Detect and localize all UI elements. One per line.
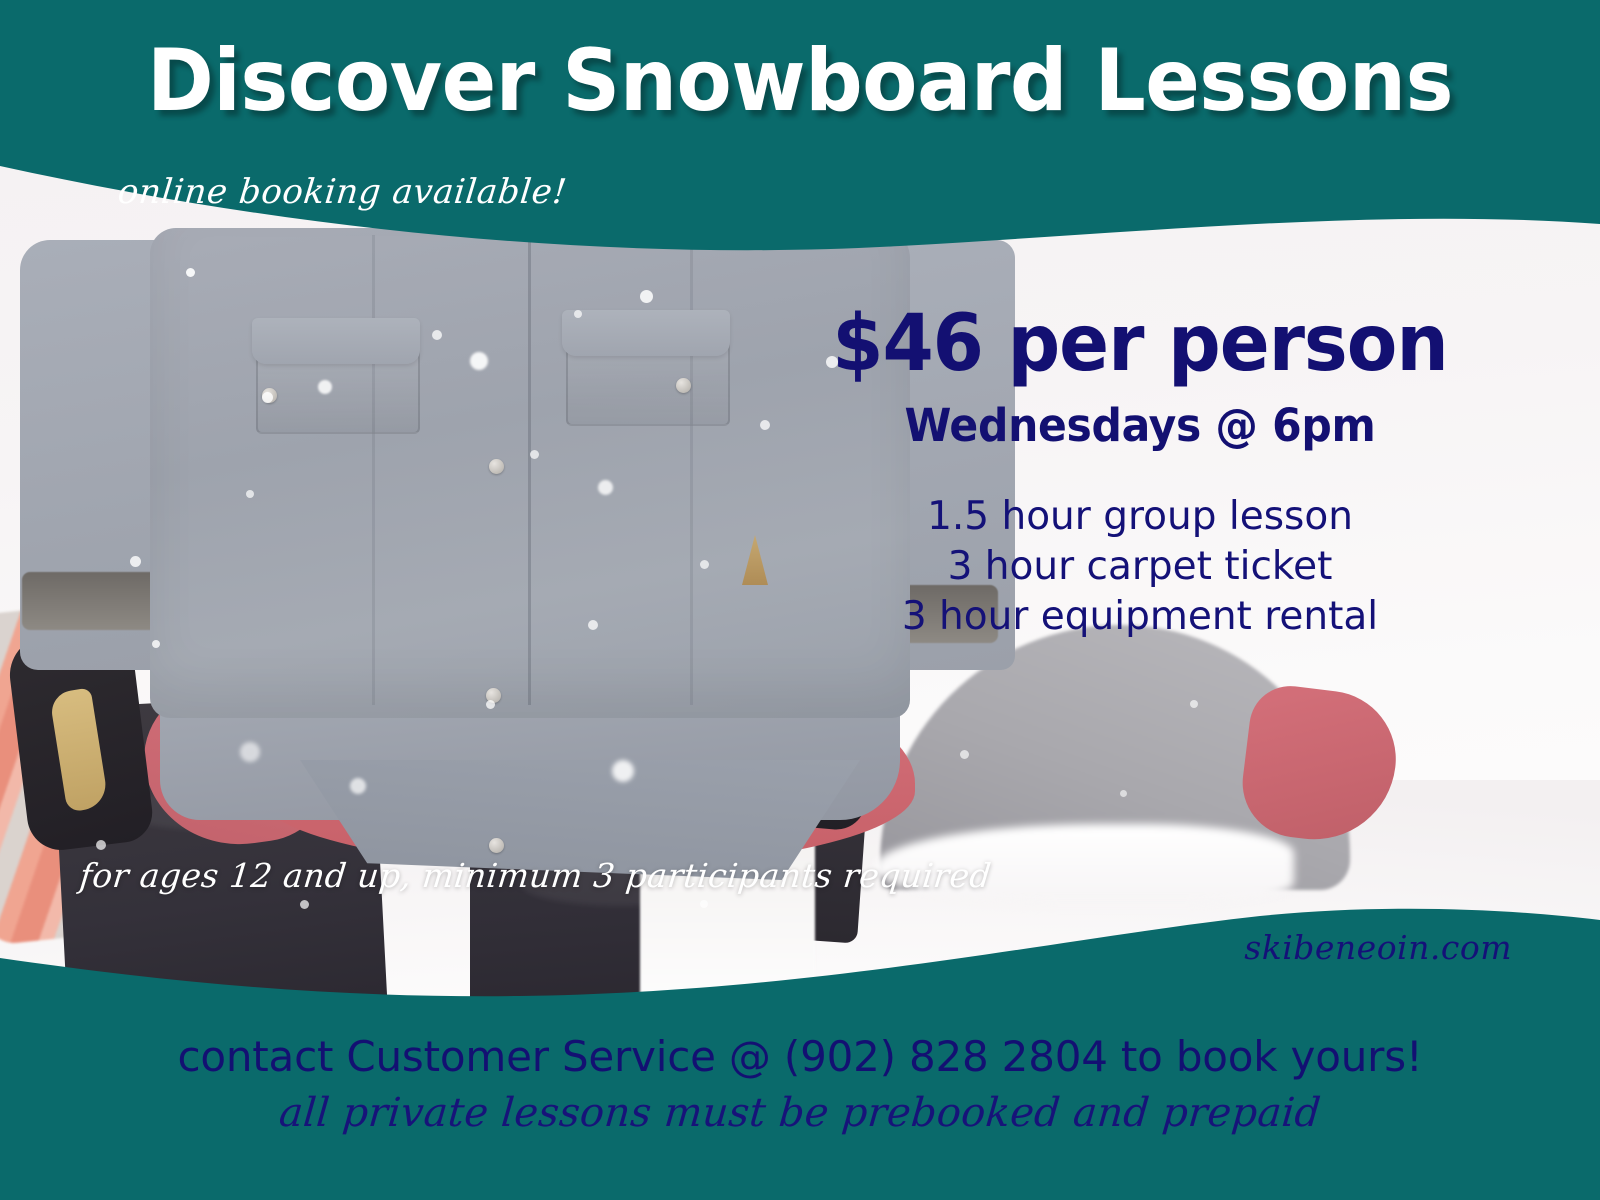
page-title: Discover Snowboard Lessons bbox=[0, 38, 1600, 124]
pocket-flap-left bbox=[252, 318, 420, 364]
snap-button bbox=[486, 688, 501, 703]
snap-button bbox=[489, 838, 504, 853]
jacket-seam bbox=[372, 235, 375, 705]
jacket-seam bbox=[690, 235, 693, 705]
snap-button bbox=[489, 459, 504, 474]
website-url[interactable]: skibeneoin.com bbox=[1244, 928, 1512, 967]
pocket-flap-right bbox=[562, 310, 730, 356]
jacket-seam bbox=[528, 235, 531, 705]
tagline: online booking available! bbox=[116, 172, 569, 212]
offer-details-list: 1.5 hour group lesson 3 hour carpet tick… bbox=[760, 492, 1520, 642]
schedule-heading: Wednesdays @ 6pm bbox=[752, 403, 1529, 448]
offer-detail-item: 3 hour equipment rental bbox=[760, 592, 1520, 642]
snap-button bbox=[262, 388, 277, 403]
prepaid-note: all private lessons must be prebooked an… bbox=[0, 1090, 1600, 1136]
contact-line: contact Customer Service @ (902) 828 280… bbox=[0, 1032, 1600, 1081]
price-heading: $46 per person bbox=[752, 305, 1529, 383]
snap-button bbox=[676, 378, 691, 393]
eligibility-fineprint: for ages 12 and up, minimum 3 participan… bbox=[78, 856, 993, 895]
offer-detail-item: 3 hour carpet ticket bbox=[760, 542, 1520, 592]
offer-detail-item: 1.5 hour group lesson bbox=[760, 492, 1520, 542]
flyer-canvas: Discover Snowboard Lessons online bookin… bbox=[0, 0, 1600, 1200]
